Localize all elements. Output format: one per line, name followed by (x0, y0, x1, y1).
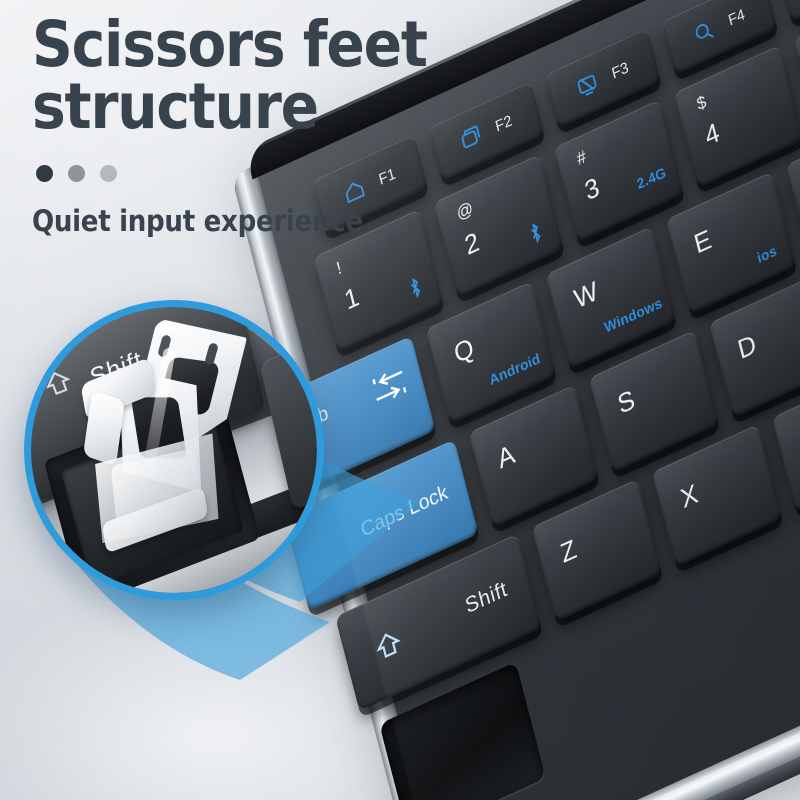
key-f2-label: F2 (494, 112, 514, 134)
key-f5[interactable]: F5 (778, 0, 800, 22)
product-marketing-image: F1 F2 F3 (0, 0, 800, 800)
magnifier-content: Shift (31, 307, 317, 593)
search-icon (691, 17, 717, 48)
app-window-icon (458, 123, 484, 154)
key-2-shift-legend: @ (455, 199, 475, 223)
carousel-dots[interactable] (36, 165, 427, 182)
key-c[interactable] (772, 369, 800, 511)
key-3-main-legend: 3 (582, 173, 602, 205)
key-4-shift-legend: $ (695, 93, 708, 114)
key-d[interactable]: D (709, 275, 800, 417)
subtitle: Quiet input experience (32, 204, 427, 238)
headline-line-2: structure (32, 76, 427, 138)
key-f2[interactable]: F2 (428, 81, 544, 181)
scissor-switch-mechanism (31, 307, 317, 593)
key-f3[interactable]: F3 (545, 28, 661, 128)
key-4-main-legend: 4 (702, 118, 722, 150)
key-f4[interactable]: F4 (661, 0, 777, 75)
key-3[interactable]: # 3 2.4G (554, 100, 684, 242)
page-title: Scissors feet structure (32, 14, 427, 139)
dot-2[interactable] (68, 165, 85, 182)
copy-block: Scissors feet structure Quiet input expe… (32, 14, 427, 238)
key-d-main-legend: D (735, 328, 760, 366)
key-e-blue-legend: ios (755, 242, 778, 266)
key-5[interactable]: % 5 (794, 0, 800, 133)
key-r[interactable]: R (786, 117, 800, 259)
magnifier-loupe: Shift (24, 300, 324, 600)
key-3-shift-legend: # (575, 147, 588, 168)
dot-3[interactable] (100, 165, 117, 182)
key-4[interactable]: $ 4 (674, 45, 800, 187)
key-f4-label: F4 (727, 6, 747, 28)
dot-active[interactable] (36, 165, 53, 182)
key-f3-label: F3 (610, 59, 630, 81)
bluetooth-icon (526, 220, 545, 246)
screen-off-icon (575, 70, 601, 101)
key-3-blue-legend: 2.4G (635, 164, 667, 193)
